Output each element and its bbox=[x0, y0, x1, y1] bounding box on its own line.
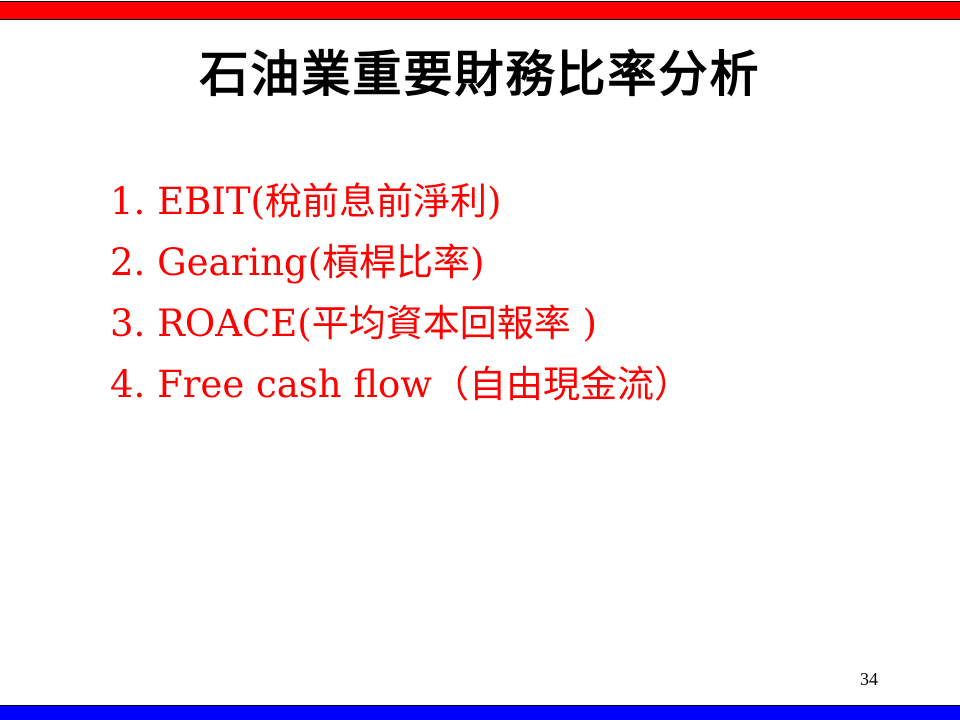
list-item: 3. ROACE(平均資本回報率 ) bbox=[110, 293, 910, 354]
list-item: 4. Free cash flow（自由現金流） bbox=[110, 354, 910, 415]
list-item: 1. EBIT(稅前息前淨利) bbox=[110, 171, 910, 232]
page-number: 34 bbox=[860, 668, 920, 690]
slide-canvas: 石油業重要財務比率分析 1. EBIT(稅前息前淨利) 2. Gearing(槓… bbox=[0, 0, 960, 720]
page-title: 石油業重要財務比率分析 bbox=[0, 44, 960, 104]
bottom-decorative-band bbox=[0, 705, 960, 720]
top-decorative-band bbox=[0, 1, 960, 20]
list-item: 2. Gearing(槓桿比率) bbox=[110, 232, 910, 293]
financial-ratio-list: 1. EBIT(稅前息前淨利) 2. Gearing(槓桿比率) 3. ROAC… bbox=[110, 171, 910, 415]
